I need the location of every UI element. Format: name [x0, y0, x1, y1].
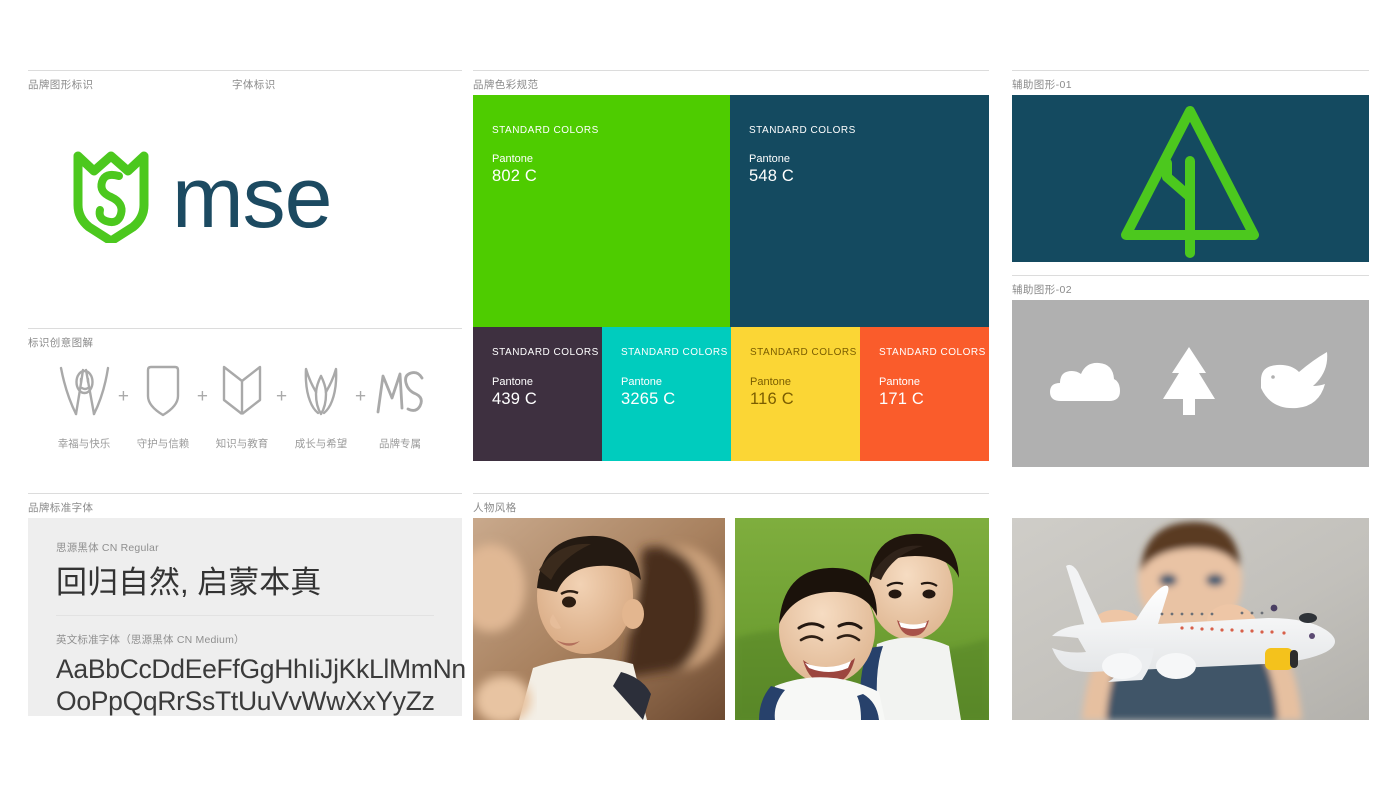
- classroom-children-photo: [473, 518, 725, 720]
- plus-sign: +: [353, 386, 368, 408]
- pine-tree-solid-icon: [1158, 345, 1220, 422]
- color-swatch[interactable]: STANDARD COLORS Pantone 802 C: [473, 95, 730, 327]
- section-label-wordmark: 字体标识: [232, 77, 276, 92]
- divider: [1012, 70, 1369, 71]
- ms-letters-icon: [374, 362, 426, 418]
- section-label-aux1: 辅助图形-01: [1012, 77, 1072, 92]
- wordmark-text: mse: [172, 155, 331, 241]
- aux-graphic-panel-1: [1012, 95, 1369, 262]
- concept-item: 品牌专属: [368, 362, 432, 451]
- concept-caption: 知识与教育: [216, 436, 269, 451]
- typography-panel: 思源黑体 CN Regular 回归自然, 启蒙本真 英文标准字体（思源黑体 C…: [28, 518, 462, 716]
- plus-sign: +: [195, 386, 210, 408]
- swatch-pantone-label: Pantone: [492, 153, 599, 165]
- swatch-code: 548 C: [749, 167, 856, 186]
- divider: [28, 70, 462, 71]
- swatch-kicker: STANDARD COLORS: [749, 125, 856, 136]
- person-celebrating-icon: [56, 362, 112, 418]
- brand-logo: mse: [72, 148, 331, 248]
- brand-guidelines-page: 品牌图形标识 字体标识 标识创意图解 品牌标准字体 品牌色彩规范 人物风格 辅助…: [0, 0, 1399, 788]
- color-swatch[interactable]: STANDARD COLORS Pantone 3265 C: [602, 327, 731, 461]
- cn-type-specimen: 思源黑体 CN Regular 回归自然, 启蒙本真: [28, 518, 462, 616]
- swatch-pantone-label: Pantone: [750, 376, 857, 388]
- concept-item: 守护与信赖: [131, 362, 195, 451]
- en-type-specimen: 英文标准字体（思源黑体 CN Medium） AaBbCcDdEeFfGgHhI…: [28, 616, 462, 718]
- en-sample-line-1: AaBbCcDdEeFfGgHhIiJjKkLlMmNn: [56, 653, 434, 685]
- swatch-code: 3265 C: [621, 390, 728, 409]
- aux-graphic-panel-2: [1012, 300, 1369, 467]
- color-swatch[interactable]: STANDARD COLORS Pantone 116 C: [731, 327, 860, 461]
- cn-sample-text: 回归自然, 启蒙本真: [56, 565, 434, 601]
- swatch-pantone-label: Pantone: [879, 376, 986, 388]
- swatch-pantone-label: Pantone: [749, 153, 856, 165]
- tulip-flower-icon: [297, 362, 345, 418]
- section-label-concept: 标识创意图解: [28, 335, 93, 350]
- cn-font-name: 思源黑体 CN Regular: [56, 540, 434, 555]
- divider: [1012, 275, 1369, 276]
- concept-item: 幸福与快乐: [52, 362, 116, 451]
- mse-shield-mark-icon: [72, 148, 150, 248]
- swatch-pantone-label: Pantone: [492, 376, 599, 388]
- swatch-kicker: STANDARD COLORS: [492, 347, 599, 358]
- divider: [473, 70, 989, 71]
- concept-item: 成长与希望: [289, 362, 353, 451]
- open-book-icon: [218, 362, 266, 418]
- color-swatch[interactable]: STANDARD COLORS Pantone 171 C: [860, 327, 989, 461]
- concept-caption: 成长与希望: [295, 436, 348, 451]
- divider: [28, 328, 462, 329]
- swatch-kicker: STANDARD COLORS: [750, 347, 857, 358]
- color-swatch[interactable]: STANDARD COLORS Pantone 439 C: [473, 327, 602, 461]
- en-font-name: 英文标准字体（思源黑体 CN Medium）: [56, 632, 434, 647]
- color-swatch[interactable]: STANDARD COLORS Pantone 548 C: [730, 95, 989, 327]
- swatch-code: 171 C: [879, 390, 986, 409]
- shield-icon: [143, 362, 183, 418]
- bird-icon: [1257, 350, 1333, 417]
- plus-sign: +: [274, 386, 289, 408]
- concept-breakdown: 幸福与快乐 + 守护与信赖 + 知识与教: [52, 362, 432, 451]
- boy-with-toy-airplane-photo: [1012, 518, 1369, 720]
- section-label-brand-font: 品牌标准字体: [28, 500, 93, 515]
- two-smiling-children-photo: [735, 518, 989, 720]
- color-palette: STANDARD COLORS Pantone 802 C STANDARD C…: [473, 95, 989, 461]
- section-label-brand-mark: 品牌图形标识: [28, 77, 93, 92]
- swatch-code: 439 C: [492, 390, 599, 409]
- section-label-color-spec: 品牌色彩规范: [473, 77, 538, 92]
- pine-tree-outline-icon: [1126, 111, 1254, 253]
- swatch-kicker: STANDARD COLORS: [492, 125, 599, 136]
- concept-caption: 品牌专属: [379, 436, 421, 451]
- cloud-icon: [1049, 355, 1121, 412]
- concept-item: 知识与教育: [210, 362, 274, 451]
- swatch-kicker: STANDARD COLORS: [621, 347, 728, 358]
- en-sample-line-2: OoPpQqRrSsTtUuVvWwXxYyZz: [56, 685, 434, 717]
- divider: [28, 493, 462, 494]
- section-label-people-style: 人物风格: [473, 500, 517, 515]
- swatch-code: 116 C: [750, 390, 857, 409]
- swatch-kicker: STANDARD COLORS: [879, 347, 986, 358]
- swatch-code: 802 C: [492, 167, 599, 186]
- concept-caption: 守护与信赖: [137, 436, 190, 451]
- swatch-pantone-label: Pantone: [621, 376, 728, 388]
- divider: [473, 493, 989, 494]
- plus-sign: +: [116, 386, 131, 408]
- concept-caption: 幸福与快乐: [58, 436, 111, 451]
- section-label-aux2: 辅助图形-02: [1012, 282, 1072, 297]
